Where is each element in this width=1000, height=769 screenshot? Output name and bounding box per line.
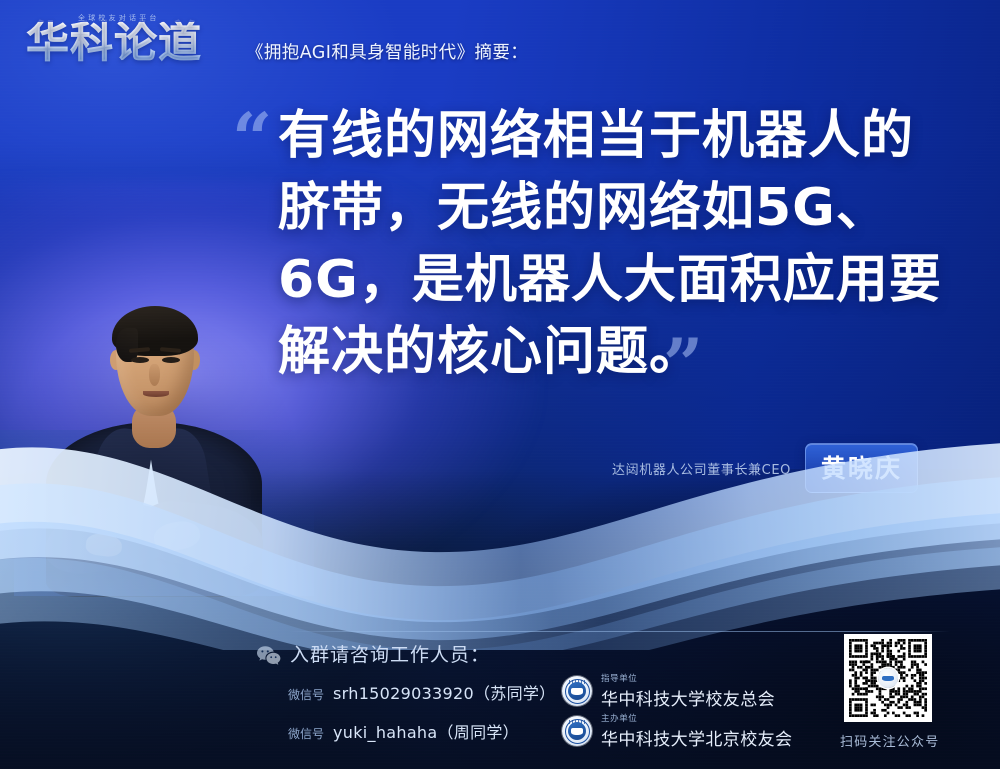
organization-row: 主办单位 华中科技大学北京校友会 [562, 712, 792, 750]
wechat-id: srh15029033920（苏同学） [333, 680, 555, 704]
wechat-id: yuki_hahaha（周同学） [333, 719, 519, 743]
organization-kind: 指导单位 [601, 672, 775, 684]
qr-block[interactable]: 扫码关注公众号 [840, 634, 936, 750]
organization-name: 华中科技大学校友总会 [601, 685, 775, 710]
footer-title: 入群请咨询工作人员： [290, 640, 490, 667]
poster-canvas: 全球校友对话平台 华科论道 《拥抱AGI和具身智能时代》摘要： “ 有线的网络相… [0, 0, 1000, 769]
organization-name: 华中科技大学北京校友会 [601, 725, 792, 750]
organization-kind: 主办单位 [601, 712, 792, 724]
wechat-label: 微信号 [288, 686, 324, 703]
wechat-contact-row[interactable]: 微信号 yuki_hahaha（周同学） [288, 719, 519, 743]
qr-code[interactable] [844, 634, 932, 722]
wechat-icon [256, 645, 282, 667]
wechat-label: 微信号 [288, 725, 324, 742]
footer-divider [288, 631, 950, 632]
qr-caption: 扫码关注公众号 [840, 731, 936, 750]
qr-center-logo [878, 668, 898, 688]
wechat-contact-row[interactable]: 微信号 srh15029033920（苏同学） [288, 680, 555, 704]
university-emblem-icon [562, 716, 592, 746]
university-emblem-icon [562, 676, 592, 706]
organization-row: 指导单位 华中科技大学校友总会 [562, 672, 775, 710]
